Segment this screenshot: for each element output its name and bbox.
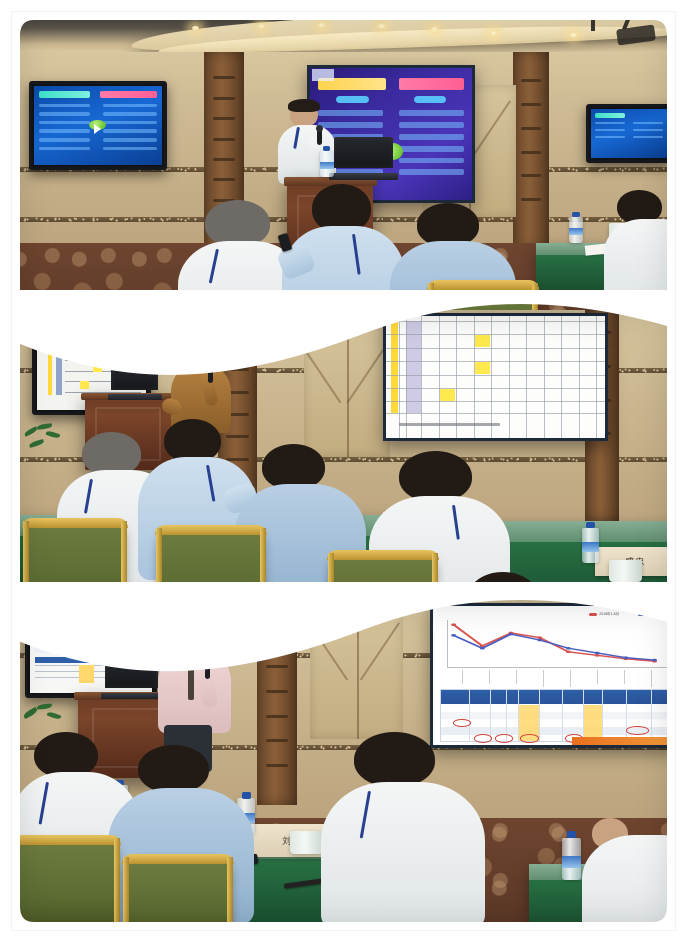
chart-x-tick <box>570 670 571 687</box>
spotlight-icon <box>430 26 439 32</box>
audience-torso <box>321 782 484 930</box>
presenter-bottom[interactable] <box>158 620 231 759</box>
water-bottle-icon <box>562 838 581 881</box>
audience-head <box>354 732 436 787</box>
audience-member[interactable] <box>330 732 476 917</box>
banquet-chair <box>125 857 231 930</box>
panel-bottom[interactable]: 2018年1-8月 2017年1-8月 <box>12 600 675 930</box>
main-projection-screen-middle[interactable] <box>383 313 608 441</box>
conference-room-scene-middle: 庆山 余 盛忠 <box>12 310 675 630</box>
legend-marker-series-1 <box>589 613 597 616</box>
highlighted-cell <box>475 335 490 347</box>
water-bottle-icon <box>569 217 584 243</box>
chart-x-tick <box>489 670 490 684</box>
annotation-circle <box>474 734 492 743</box>
chart-x-tick <box>462 670 463 684</box>
audience-head <box>312 184 371 233</box>
wall-tv-right[interactable] <box>586 104 672 163</box>
projected-data-table <box>386 316 605 438</box>
audience-head <box>138 745 209 793</box>
decorative-wall-panel <box>304 323 390 457</box>
annotation-circle <box>495 734 513 743</box>
photo-collage: 庆山 余 盛忠 <box>0 0 687 942</box>
table-header-row <box>441 690 675 703</box>
panel-top[interactable] <box>12 12 675 342</box>
mug-icon <box>609 560 642 582</box>
collage-title: Business Conference Photo Collage <box>0 0 1 1</box>
projected-chart-and-table: 2018年1-8月 2017年1-8月 <box>433 606 675 745</box>
brand-banner <box>572 737 675 745</box>
main-projection-screen-bottom[interactable]: 2018年1-8月 2017年1-8月 <box>430 603 675 748</box>
laptop-icon <box>334 137 394 180</box>
mug-icon <box>290 831 323 854</box>
wood-wall-column <box>513 52 549 250</box>
legend-label-series-2: 2017年1-8月 <box>648 612 668 617</box>
wood-wall-column <box>257 600 297 805</box>
chart-x-axis <box>447 667 668 668</box>
chart-x-tick <box>543 670 544 687</box>
annotation-circle <box>520 734 538 743</box>
audience-head <box>205 200 270 246</box>
audience-head <box>399 451 472 502</box>
conference-room-scene-top <box>12 12 675 342</box>
spotlight-icon <box>569 32 578 38</box>
laptop-icon <box>105 659 158 699</box>
water-bottle-icon <box>320 151 333 177</box>
legend-marker-series-2 <box>638 613 646 616</box>
potted-plant <box>19 419 72 470</box>
wall-tv-left-screen <box>34 86 163 165</box>
wall-tv-right-screen <box>591 109 667 158</box>
conference-room-scene-bottom: 2018年1-8月 2017年1-8月 <box>12 600 675 930</box>
projector-mount <box>591 15 595 31</box>
table-row <box>441 712 675 719</box>
legend-label-series-1: 2018年1-8月 <box>599 612 619 617</box>
mic-icon <box>205 659 210 679</box>
mic-icon <box>208 367 213 383</box>
audience-member[interactable] <box>609 190 675 302</box>
water-bottle-icon <box>582 528 599 563</box>
collage-frame: 庆山 余 盛忠 <box>12 12 675 930</box>
annotation-circle <box>626 726 649 735</box>
highlighted-cell <box>440 389 455 401</box>
chart-x-tick <box>651 670 652 687</box>
audience-torso <box>582 835 675 930</box>
chart-series-2-line <box>447 620 668 667</box>
mic-icon <box>317 129 322 145</box>
table-footnote <box>399 423 500 426</box>
wall-tv-left[interactable] <box>29 81 168 170</box>
presenter-torso <box>158 648 231 734</box>
decorative-wall-panel <box>310 607 403 739</box>
spotlight-icon <box>377 23 386 29</box>
highlighted-column <box>583 705 602 741</box>
chart-x-tick <box>516 670 517 684</box>
audience-torso <box>604 219 675 304</box>
table-row <box>441 705 675 712</box>
laptop-icon <box>111 364 157 399</box>
arrow-icon <box>89 120 106 130</box>
chart-x-tick <box>597 670 598 684</box>
panel-middle[interactable]: 庆山 余 盛忠 <box>12 310 675 630</box>
audience-member[interactable] <box>582 805 675 930</box>
banquet-chair <box>12 838 118 930</box>
highlighted-cell <box>475 362 490 374</box>
chart-x-tick <box>624 670 625 684</box>
